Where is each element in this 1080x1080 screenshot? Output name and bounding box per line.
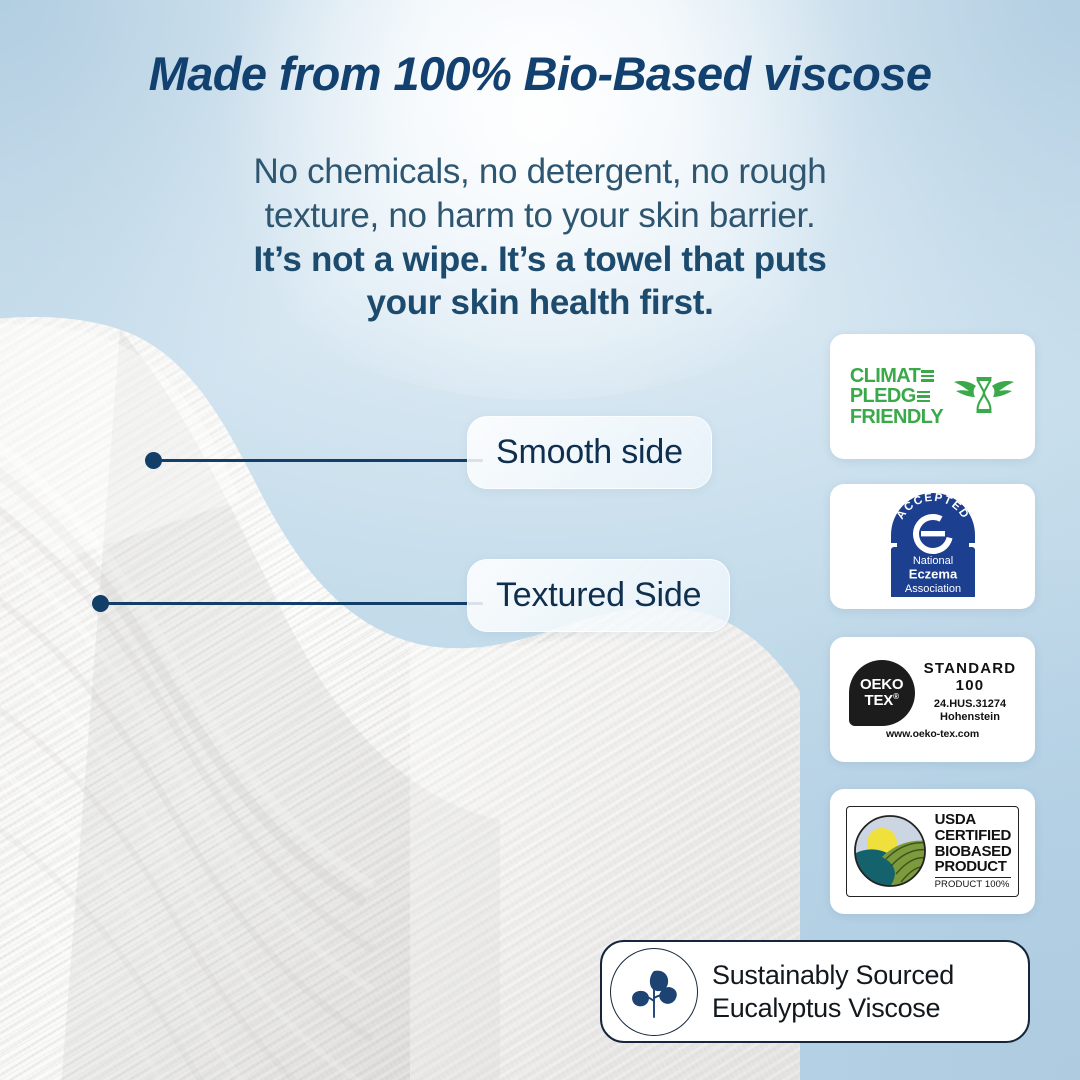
page-subcopy: No chemicals, no detergent, no rough tex… [0,150,1080,325]
subcopy-line-3: It’s not a wipe. It’s a towel that puts [0,238,1080,282]
oeko-url: www.oeko-tex.com [886,728,979,740]
eucalyptus-leaf-icon [623,961,685,1023]
usda-biobased-logo-icon [852,813,928,889]
eco-banner-text: Sustainably Sourced Eucalyptus Viscose [712,959,954,1024]
usda-line-1: USDA [935,812,1012,828]
oeko-tex-mark-line-2: TEX [865,692,894,709]
oeko-tex-mark-line-1: OEKO [860,677,903,692]
eczema-line-3: Association [904,583,960,595]
callout-leader-line [100,602,483,605]
oeko-certificate-number: 24.HUS.31274 [924,698,1017,711]
eco-icon-circle [610,948,698,1036]
oeko-standard-label: STANDARD [924,661,1017,678]
usda-line-2: CERTIFIED [935,828,1012,844]
climate-pledge-wordmark: CLIMAT PLEDG FRIENDLY [850,366,943,427]
eczema-accepted-seal-icon: ACCEPTED National Eczema Association [883,491,983,603]
callout-label-textured-side: Textured Side [467,559,730,632]
badge-national-eczema-association: ACCEPTED National Eczema Association [830,484,1035,609]
climate-pledge-bars-icon [917,391,930,403]
eco-banner-line-2: Eucalyptus Viscose [712,992,954,1024]
badge-usda-certified-biobased: USDA CERTIFIED BIOBASED PRODUCT PRODUCT … [830,789,1035,914]
oeko-standard-number: 100 [924,678,1017,695]
climate-pledge-line-1: CLIMAT [850,366,920,386]
oeko-institute: Hohenstein [924,711,1017,724]
oeko-tex-mark-icon: OEKO TEX® [849,660,915,726]
page-headline: Made from 100% Bio-Based viscose [0,48,1080,100]
subcopy-line-4: your skin health first. [0,281,1080,325]
badge-climate-pledge-friendly: CLIMAT PLEDG FRIENDLY [830,334,1035,459]
infographic-canvas: Made from 100% Bio-Based viscose No chem… [0,0,1080,1080]
eczema-line-1: National [912,555,952,567]
climate-pledge-line-2: PLEDG [850,386,916,406]
eczema-line-2: Eczema [908,566,957,581]
usda-divider [935,877,1012,878]
callout-leader-line [153,459,483,462]
callout-label-smooth-side: Smooth side [467,416,712,489]
usda-footnote: PRODUCT 100% [935,880,1012,890]
subcopy-line-2: texture, no harm to your skin barrier. [0,194,1080,238]
winged-hourglass-icon [953,371,1015,421]
usda-line-3: BIOBASED [935,844,1012,860]
eco-banner-sustainably-sourced: Sustainably Sourced Eucalyptus Viscose [600,940,1030,1043]
registered-mark: ® [893,692,899,701]
eco-banner-line-1: Sustainably Sourced [712,959,954,991]
usda-line-4: PRODUCT [935,859,1012,875]
climate-pledge-line-3: FRIENDLY [850,407,943,427]
badge-oeko-tex-standard-100: OEKO TEX® STANDARD 100 24.HUS.31274 Hohe… [830,637,1035,762]
subcopy-line-1: No chemicals, no detergent, no rough [0,150,1080,194]
climate-pledge-bars-icon [921,370,934,382]
